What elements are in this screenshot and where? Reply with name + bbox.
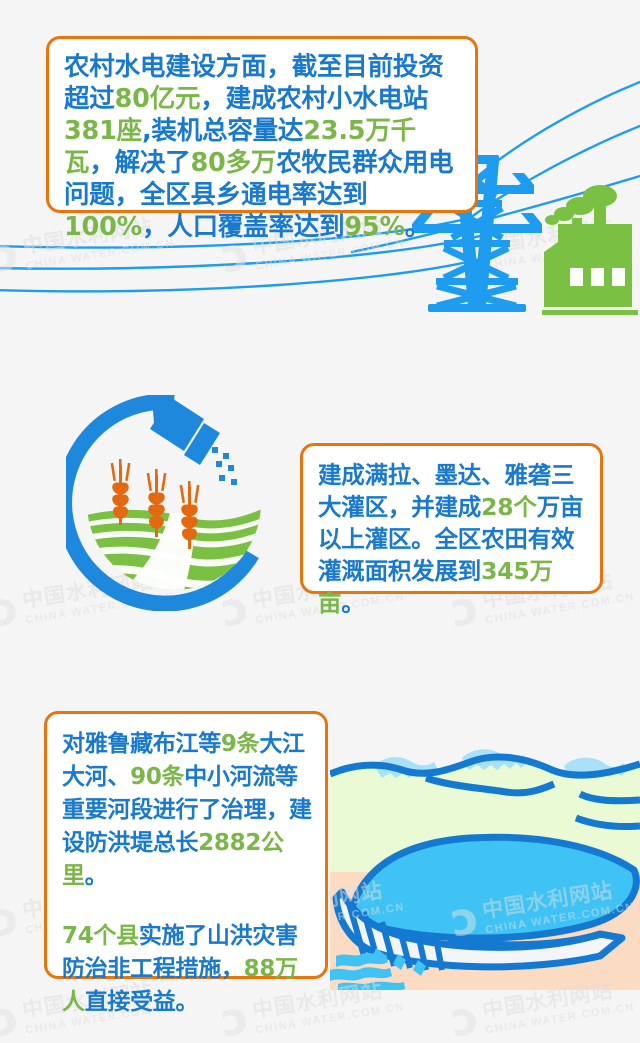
- highlight-number: 381座: [64, 116, 142, 146]
- body-text-run: ,装机总容量达: [142, 116, 303, 146]
- watermark-en-text: CHINA WATER.COM.CN: [485, 1001, 636, 1036]
- irrigation-circle-icon: [66, 395, 282, 611]
- highlight-number: 80亿元: [115, 84, 201, 114]
- c-mark-logo: ɔ: [448, 998, 481, 1039]
- factory-icon: [542, 185, 638, 315]
- sprinkler-nozzle: [150, 397, 220, 465]
- flood-control-text-1: 对雅鲁藏布江等9条大江大河、90条中小河流等重要河段进行了治理，建设防洪堤总长2…: [62, 728, 315, 893]
- water-droplets: [212, 447, 237, 485]
- reservoir-dam-illustration: [330, 742, 640, 990]
- c-mark-logo: ɔ: [0, 898, 21, 939]
- highlight-number: 28个: [481, 493, 537, 521]
- body-text-run: ，建成农村小水电站: [200, 84, 428, 114]
- body-text-run: 对雅鲁藏布江等: [62, 731, 221, 757]
- body-text-run: 。: [405, 212, 430, 242]
- flood-control-text-2: 74个县实施了山洪灾害防治非工程措施，88万人直接受益。: [62, 920, 315, 1019]
- highlight-number: 100%: [64, 212, 142, 242]
- c-mark-logo: ɔ: [0, 588, 21, 629]
- c-mark-logo: ɔ: [0, 998, 21, 1039]
- highlight-number: 9条: [221, 731, 259, 757]
- highlight-number: 95%: [344, 212, 404, 242]
- body-text-run: ，人口覆盖率达到: [142, 212, 344, 242]
- highlight-number: 90条: [130, 764, 184, 790]
- body-text-run: 。: [85, 863, 108, 889]
- body-text-run: 直接受益。: [85, 989, 199, 1015]
- irrigation-districts-text: 建成满拉、墨达、雅砻三大灌区，并建成28个万亩以上灌区。全区农田有效灌溉面积发展…: [318, 459, 590, 619]
- body-text-run: ，解决了: [89, 148, 190, 178]
- highlight-number: 74个县: [62, 923, 139, 949]
- irrigation-districts-card: 建成满拉、墨达、雅砻三大灌区，并建成28个万亩以上灌区。全区农田有效灌溉面积发展…: [300, 443, 603, 594]
- rural-hydropower-card: 农村水电建设方面，截至目前投资超过80亿元，建成农村小水电站381座,装机总容量…: [46, 36, 478, 213]
- highlight-number: 80多万: [191, 148, 277, 178]
- rural-hydropower-text: 农村水电建设方面，截至目前投资超过80亿元，建成农村小水电站381座,装机总容量…: [64, 51, 461, 243]
- infographic-canvas: 农村水电建设方面，截至目前投资超过80亿元，建成农村小水电站381座,装机总容量…: [0, 0, 640, 1043]
- body-text-run: 。: [341, 589, 364, 617]
- flood-control-card: 对雅鲁藏布江等9条大江大河、90条中小河流等重要河段进行了治理，建设防洪堤总长2…: [44, 711, 328, 979]
